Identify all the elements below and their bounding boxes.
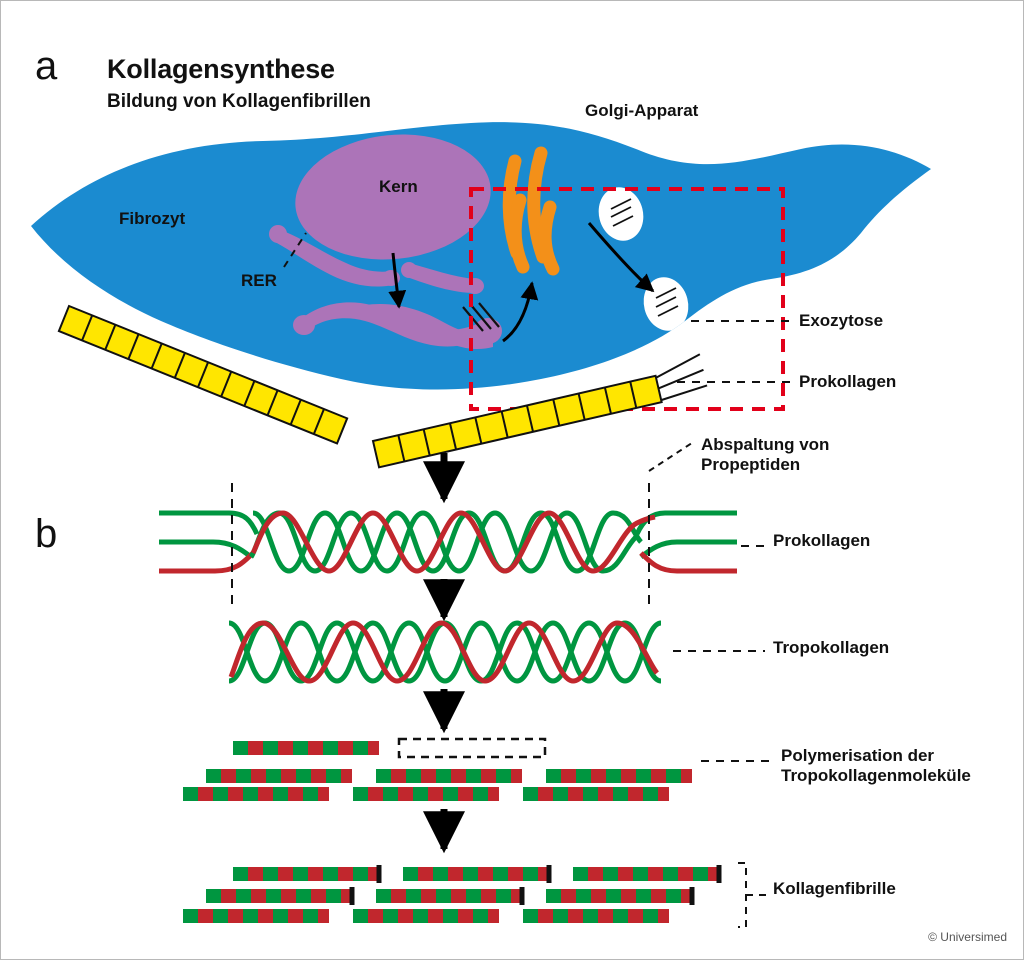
figure-canvas: a b Kollagensynthese Bildung von Kollage… [0, 0, 1024, 960]
label-kollagenfibrille: Kollagenfibrille [773, 879, 896, 899]
label-polymerisation: Polymerisation derTropokollagenmoleküle [781, 746, 971, 785]
label-golgi-apparat: Golgi-Apparat [585, 101, 698, 121]
label-kern: Kern [379, 177, 418, 197]
polymerisation-line-2: Tropokollagenmoleküle [781, 766, 971, 785]
copyright-notice: © Universimed [928, 930, 1007, 944]
abspaltung-line-1: Abspaltung von [701, 435, 829, 454]
polymerisation-line-1: Polymerisation der [781, 746, 934, 765]
polymerisation-rows [183, 739, 692, 801]
label-tropokollagen: Tropokollagen [773, 638, 889, 658]
label-fibrozyt: Fibrozyt [119, 209, 185, 229]
label-prokollagen-helix: Prokollagen [773, 531, 870, 551]
figure-title: Kollagensynthese [107, 54, 335, 85]
prokollagen-helix [159, 513, 737, 571]
panel-letter-a: a [35, 46, 57, 86]
figure-subtitle: Bildung von Kollagenfibrillen [107, 91, 371, 113]
abspaltung-line-2: Propeptiden [701, 455, 800, 474]
poly-row-3 [183, 787, 669, 801]
label-prokollagen-cell: Prokollagen [799, 372, 896, 392]
poly-row-1 [233, 739, 545, 757]
diagram-graphics [1, 1, 1024, 960]
propeptide-lines [653, 354, 708, 400]
kollagenfibrille [183, 863, 767, 927]
fibril-row-3 [183, 909, 669, 923]
label-rer: RER [241, 271, 277, 291]
gap-region-box [399, 739, 545, 757]
panel-letter-b: b [35, 514, 57, 554]
fibril-row-1 [233, 867, 719, 881]
poly-row-2 [206, 769, 692, 783]
label-exozytose: Exozytose [799, 311, 883, 331]
label-abspaltung-propeptiden: Abspaltung vonPropeptiden [701, 435, 829, 474]
fibrille-bracket [738, 863, 746, 927]
tropokollagen-helix [229, 623, 661, 681]
fibril-row-2 [206, 889, 692, 903]
